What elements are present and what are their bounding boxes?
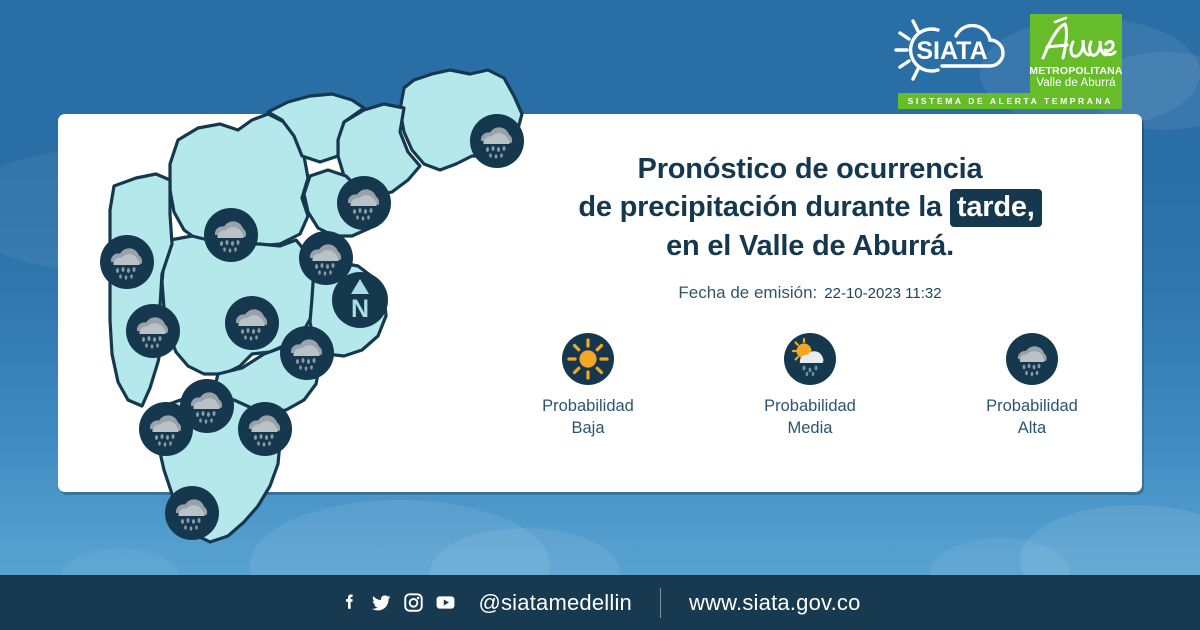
website-url[interactable]: www.siata.gov.co <box>689 590 861 616</box>
map-marker-cloud-rain-icon <box>126 304 180 358</box>
legend-alta-line2: Alta <box>1018 419 1046 437</box>
forecast-content: Pronóstico de ocurrencia de precipitació… <box>500 150 1120 439</box>
headline-line-3: en el Valle de Aburrá. <box>500 227 1120 265</box>
twitter-icon[interactable] <box>371 592 392 613</box>
map-marker-cloud-rain-icon <box>280 326 334 380</box>
compass-north-icon: N <box>332 272 388 328</box>
sun-cloud-rain-icon <box>784 333 836 385</box>
area-logo-line2: Valle de Aburrá <box>1036 77 1115 90</box>
map-marker-cloud-rain-icon <box>165 486 219 540</box>
valle-de-aburra-map: N <box>52 44 532 564</box>
legend-item-media: Probabilidad Media <box>735 333 885 439</box>
headline-line-1: Pronóstico de ocurrencia <box>500 150 1120 188</box>
legend-alta-line1: Probabilidad <box>986 397 1078 415</box>
sun-icon <box>562 333 614 385</box>
siata-logo-icon: SIATA <box>886 14 1018 86</box>
emission-date-row: Fecha de emisión: 22-10-2023 11:32 <box>500 283 1120 303</box>
compass-label: N <box>351 295 369 323</box>
map-marker-cloud-rain-icon <box>139 402 193 456</box>
legend-label-alta: Probabilidad Alta <box>986 395 1078 439</box>
map-marker-cloud-rain-icon <box>204 208 258 262</box>
legend-item-alta: Probabilidad Alta <box>957 333 1107 439</box>
legend-media-line1: Probabilidad <box>764 397 856 415</box>
headline-line2-text: de precipitación durante la <box>578 191 950 223</box>
map-svg: N <box>52 44 532 564</box>
facebook-icon[interactable] <box>339 592 360 613</box>
cloud-rain-icon <box>1006 333 1058 385</box>
siata-logo-text: SIATA <box>916 37 987 65</box>
legend-media-line2: Media <box>788 419 833 437</box>
legend-baja-line1: Probabilidad <box>542 397 634 415</box>
period-highlight: tarde, <box>950 189 1042 227</box>
headline-line-2: de precipitación durante la tarde, <box>500 188 1120 227</box>
tagline-banner: SISTEMA DE ALERTA TEMPRANA <box>898 93 1122 109</box>
legend-label-media: Probabilidad Media <box>764 395 856 439</box>
map-marker-cloud-rain-icon <box>337 176 391 230</box>
probability-legend: Probabilidad Baja <box>500 333 1120 439</box>
map-marker-cloud-rain-icon <box>100 235 154 289</box>
area-metropolitana-logo: METROPOLITANA Valle de Aburrá <box>1030 14 1122 96</box>
emission-date-label: Fecha de emisión: <box>678 283 817 303</box>
legend-baja-line2: Baja <box>571 419 604 437</box>
youtube-icon[interactable] <box>435 592 456 613</box>
legend-label-baja: Probabilidad Baja <box>542 395 634 439</box>
map-marker-cloud-rain-icon <box>238 402 292 456</box>
footer-bar: @siatamedellin www.siata.gov.co <box>0 575 1200 630</box>
footer-content: @siatamedellin www.siata.gov.co <box>339 588 860 618</box>
map-marker-cloud-rain-icon <box>225 296 279 350</box>
area-script-icon <box>1033 16 1119 66</box>
emission-date-value: 22-10-2023 11:32 <box>824 285 941 302</box>
infographic-canvas: SIATA METROPOLITANA Valle de Aburrá SIST… <box>0 0 1200 630</box>
instagram-icon[interactable] <box>403 592 424 613</box>
footer-divider <box>660 588 661 618</box>
social-handle[interactable]: @siatamedellin <box>478 590 632 616</box>
legend-item-baja: Probabilidad Baja <box>513 333 663 439</box>
social-icons-group <box>339 592 456 613</box>
logo-bar: SIATA METROPOLITANA Valle de Aburrá <box>886 14 1122 96</box>
area-logo-line1: METROPOLITANA <box>1029 66 1122 77</box>
page-title: Pronóstico de ocurrencia de precipitació… <box>500 150 1120 265</box>
